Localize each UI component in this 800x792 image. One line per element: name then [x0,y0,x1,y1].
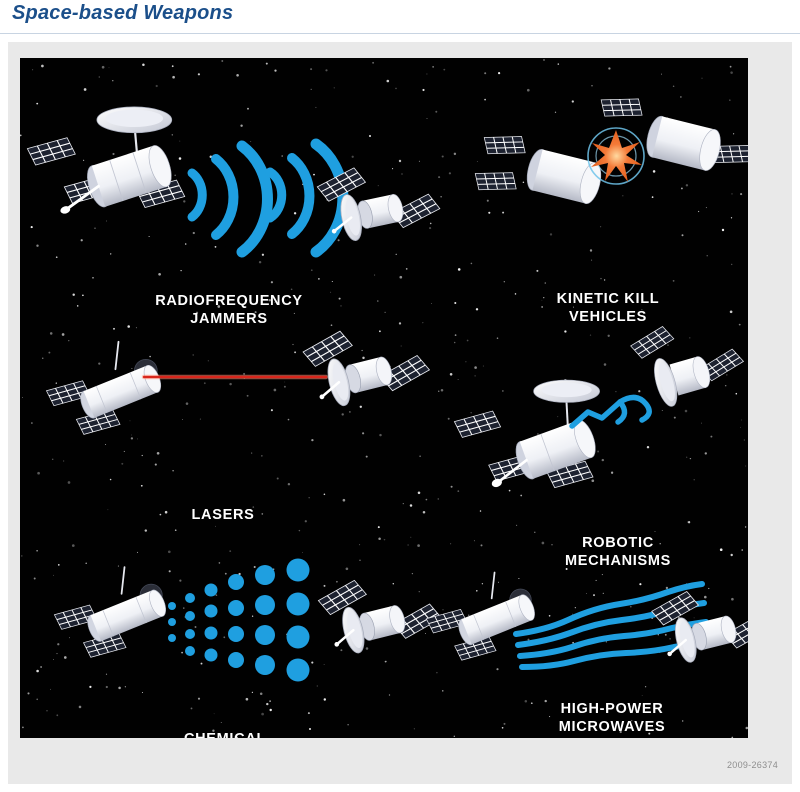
laser-satellite [46,342,164,435]
target-satellite [628,308,748,413]
impact-burst-icon [588,128,644,184]
caption-chemical-sprayers: CHEMICAL SPRAYERS [105,730,345,738]
title-divider [0,33,800,34]
scene-chemical-sprayers: CHEMICAL SPRAYERS [20,538,420,738]
figure-id-code: 2009-26374 [727,760,778,770]
kill-vehicle-satellite [472,128,607,218]
scene-high-power-microwaves: HIGH-POWER MICROWAVES [400,528,748,728]
scene-lasers: LASERS [20,320,420,530]
page-title: Space-based Weapons [12,2,233,25]
scene-kinetic-kill-vehicles: KINETIC KILL VEHICLES [490,58,748,298]
figure-page: Space-based Weapons [0,0,800,792]
caption-lasers: LASERS [123,506,323,524]
figure-panel: RADIOFREQUENCY JAMMERS [8,42,792,784]
target-satellite [300,312,432,412]
starfield-canvas: RADIOFREQUENCY JAMMERS [20,58,748,738]
scene-radiofrequency-jammers: RADIOFREQUENCY JAMMERS [20,58,420,298]
spray-droplets-icon [168,559,310,682]
sprayer-satellite [54,567,169,657]
caption-high-power-microwaves: HIGH-POWER MICROWAVES [482,700,742,736]
radio-wave-icon [192,144,343,252]
scene-robotic-mechanisms: ROBOTIC MECHANISMS [470,308,748,558]
robotic-satellite [454,379,599,492]
jammer-satellite [27,107,184,220]
